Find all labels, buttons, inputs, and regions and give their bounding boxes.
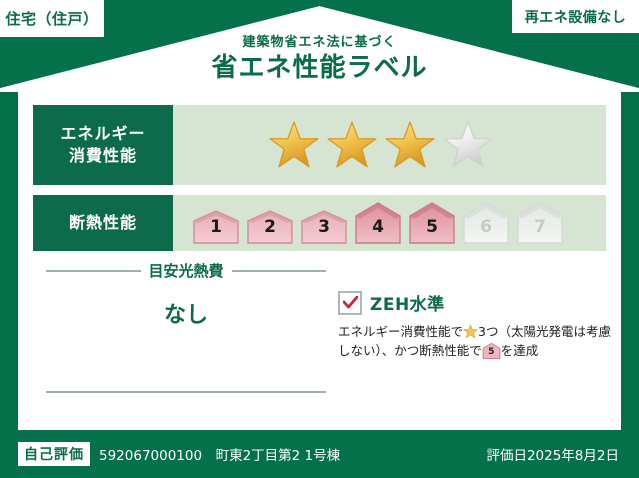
grade-number-3: 3 bbox=[299, 217, 349, 237]
energy-performance-label: 住宅（住戸） 再エネ設備なし 建築物省エネ法に基づく 省エネ性能ラベル エネルギ… bbox=[0, 0, 639, 478]
grade-badge-4: 4 bbox=[353, 202, 403, 244]
energy-performance-label: エネルギー 消費性能 bbox=[33, 105, 173, 185]
grade-badge-5: 5 bbox=[407, 202, 457, 244]
label-subtitle: 建築物省エネ法に基づく bbox=[0, 36, 639, 49]
grade-icon-inline: 5 bbox=[482, 343, 501, 359]
star-icon-filled-2 bbox=[326, 119, 378, 171]
grade-number-6: 6 bbox=[461, 217, 511, 237]
grade-number-inline: 5 bbox=[482, 346, 501, 359]
grade-number-5: 5 bbox=[407, 217, 457, 237]
star-icon-inline bbox=[463, 324, 478, 339]
star-rating bbox=[268, 119, 494, 171]
evaluation-type-badge: 自己評価 bbox=[18, 442, 90, 466]
grade-badge-6: 6 bbox=[461, 202, 511, 244]
insulation-performance-label: 断熱性能 bbox=[33, 195, 173, 251]
zeh-heading: ZEH水準 bbox=[338, 290, 613, 315]
evaluation-id-and-address: 592067000100 町東2丁目第2 1号棟 bbox=[99, 444, 340, 464]
utility-cost-title: 目安光熱費 bbox=[149, 260, 224, 281]
insulation-performance-body: 1 2 3 bbox=[173, 195, 606, 251]
renewable-equipment-tag: 再エネ設備なし bbox=[512, 0, 639, 33]
title-block: 建築物省エネ法に基づく 省エネ性能ラベル bbox=[0, 36, 639, 81]
star-icon-filled-3 bbox=[384, 119, 436, 171]
utility-cost-bottom-rule bbox=[46, 391, 326, 393]
grade-badge-3: 3 bbox=[299, 210, 349, 244]
grade-badge-1: 1 bbox=[191, 210, 241, 244]
zeh-block: ZEH水準 エネルギー消費性能で3つ（太陽光発電は考慮しない）、かつ断熱性能で5… bbox=[338, 290, 613, 361]
energy-performance-body bbox=[173, 105, 606, 185]
grade-number-2: 2 bbox=[245, 217, 295, 237]
building-type-tag: 住宅（住戸） bbox=[0, 0, 104, 37]
insulation-grade-scale: 1 2 3 bbox=[191, 202, 565, 244]
insulation-label-line1: 断熱性能 bbox=[69, 212, 137, 234]
grade-number-1: 1 bbox=[191, 217, 241, 237]
zeh-checkbox[interactable] bbox=[338, 291, 362, 315]
zeh-title: ZEH水準 bbox=[370, 290, 445, 315]
utility-cost-value: なし bbox=[46, 297, 326, 329]
label-body-card: エネルギー 消費性能 bbox=[18, 92, 621, 430]
star-icon-filled-1 bbox=[268, 119, 320, 171]
page-title: 省エネ性能ラベル bbox=[0, 55, 639, 81]
energy-performance-row: エネルギー 消費性能 bbox=[33, 105, 606, 185]
star-icon-empty-4 bbox=[442, 119, 494, 171]
energy-label-line2: 消費性能 bbox=[69, 145, 137, 167]
grade-number-4: 4 bbox=[353, 217, 403, 237]
zeh-desc-part3: を達成 bbox=[501, 343, 539, 358]
rule-right bbox=[232, 270, 327, 272]
energy-label-line1: エネルギー bbox=[60, 123, 145, 145]
grade-badge-7: 7 bbox=[515, 202, 565, 244]
utility-cost-heading: 目安光熱費 bbox=[46, 260, 326, 281]
footer-left: 自己評価 592067000100 町東2丁目第2 1号棟 bbox=[18, 442, 340, 466]
rule-left bbox=[46, 270, 141, 272]
footer-bar: 自己評価 592067000100 町東2丁目第2 1号棟 評価日2025年8月… bbox=[0, 430, 639, 478]
zeh-desc-part1: エネルギー消費性能で bbox=[338, 324, 463, 339]
check-icon bbox=[343, 296, 358, 309]
grade-number-7: 7 bbox=[515, 217, 565, 237]
evaluation-date: 評価日2025年8月2日 bbox=[486, 444, 619, 464]
grade-badge-2: 2 bbox=[245, 210, 295, 244]
zeh-description: エネルギー消費性能で3つ（太陽光発電は考慮しない）、かつ断熱性能で5を達成 bbox=[338, 322, 613, 361]
insulation-performance-row: 断熱性能 1 bbox=[33, 195, 606, 251]
